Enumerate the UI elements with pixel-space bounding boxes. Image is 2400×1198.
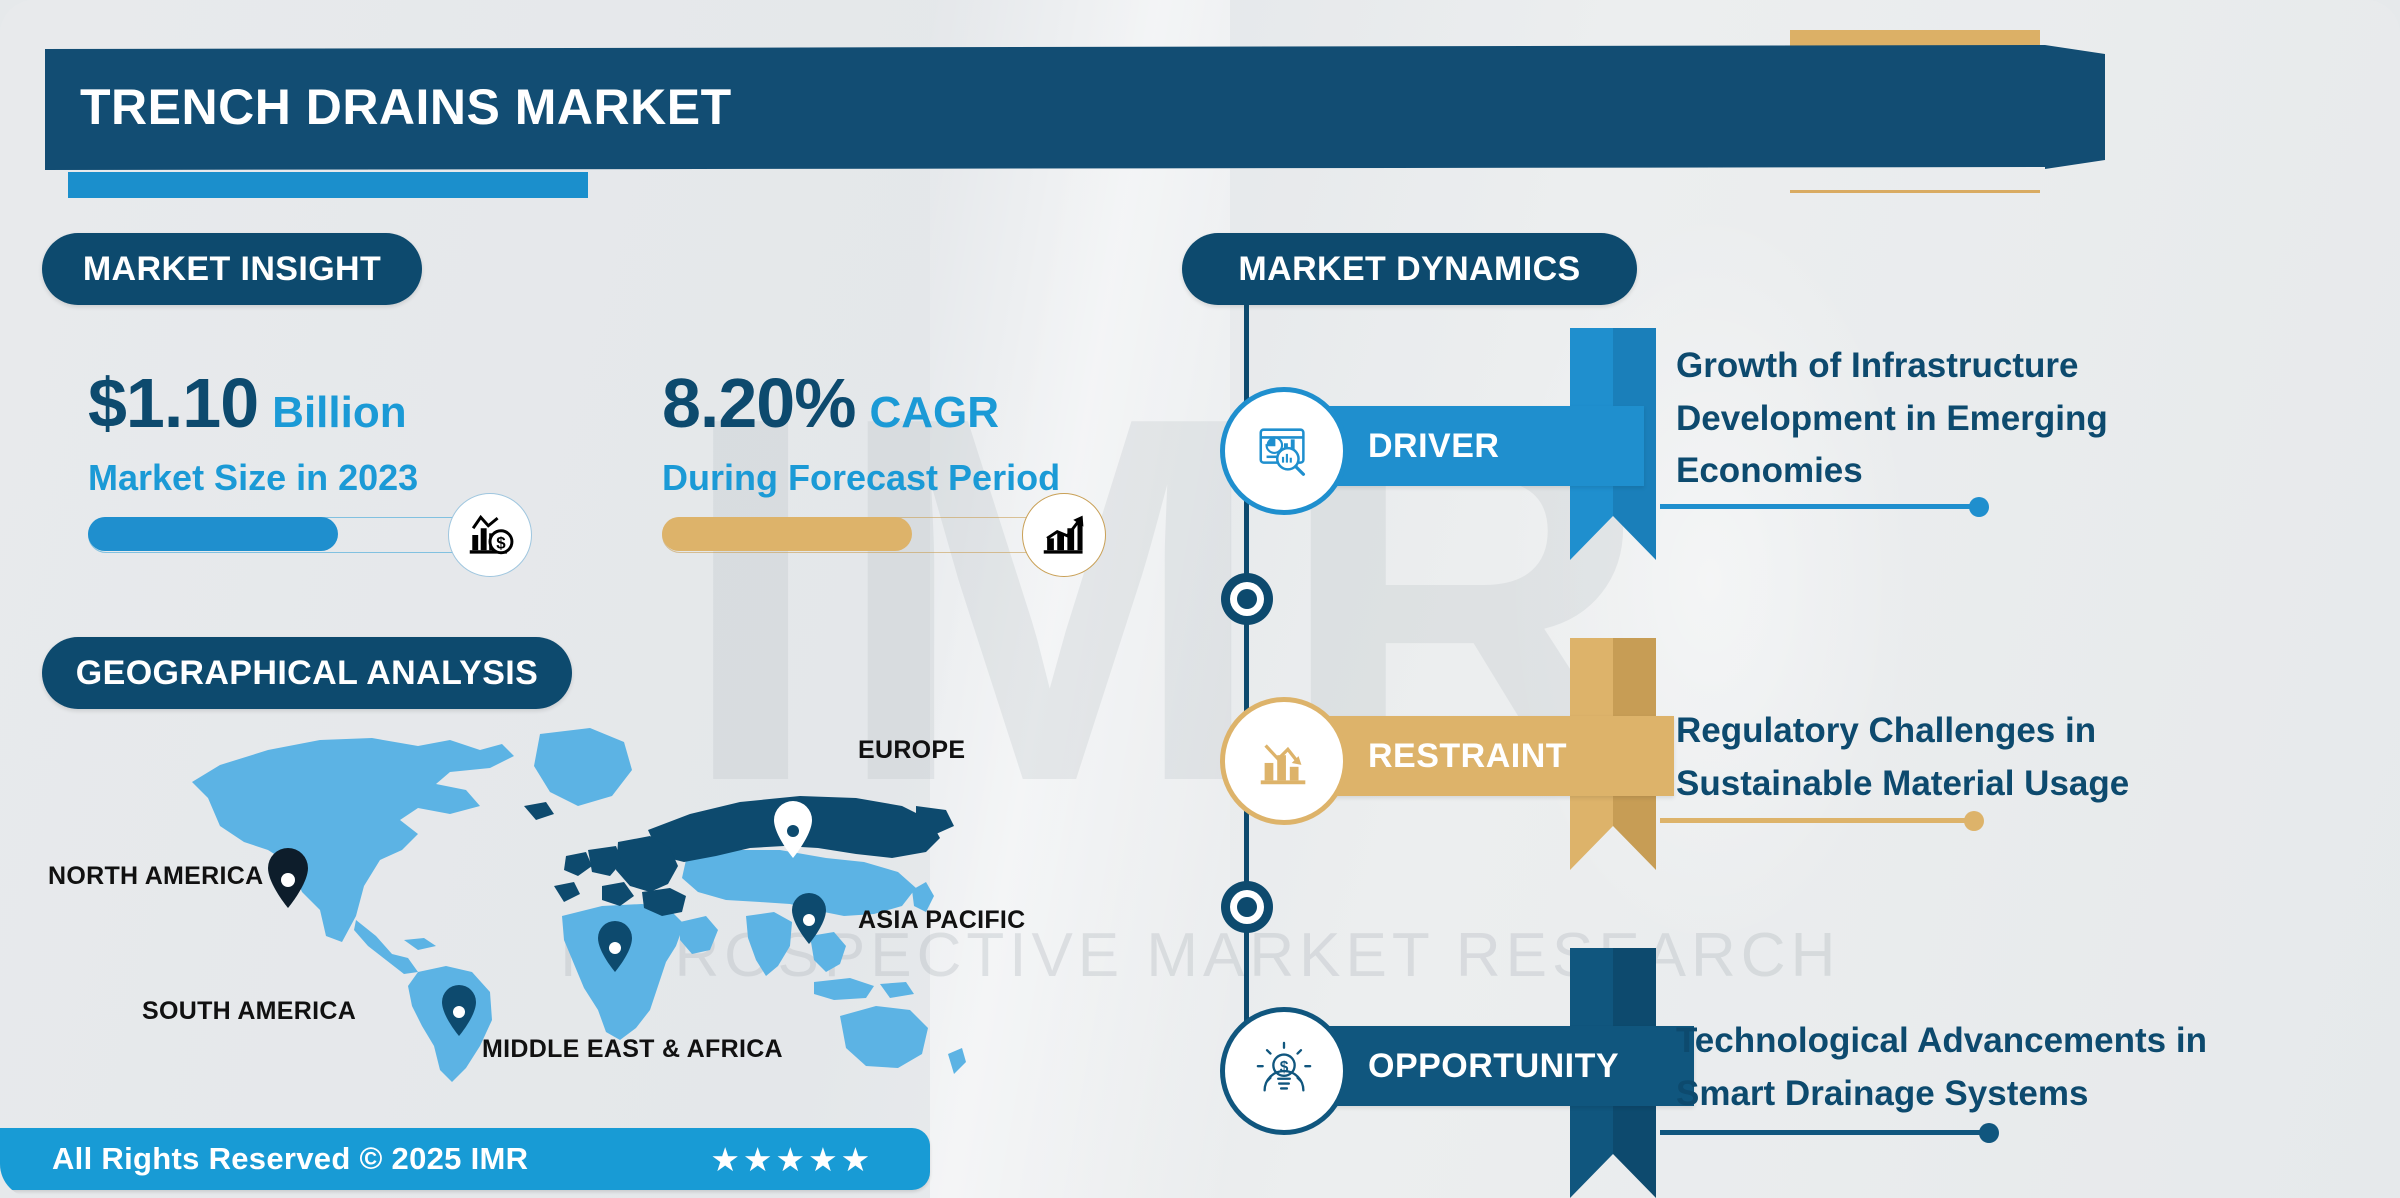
- lightbulb-dollar-icon: $: [1220, 1007, 1348, 1135]
- cagr-caption: During Forecast Period: [662, 457, 1060, 499]
- opportunity-underline: [1660, 1130, 1990, 1135]
- market-size-value: $1.10: [88, 363, 258, 443]
- map-label-europe: EUROPE: [858, 736, 965, 765]
- declining-bar-chart-icon: [1220, 697, 1348, 825]
- map-label-middle-east-africa: MIDDLE EAST & AFRICA: [482, 1035, 783, 1064]
- page-title: TRENCH DRAINS MARKET: [80, 78, 732, 136]
- map-label-south-america: SOUTH AMERICA: [142, 997, 356, 1026]
- opportunity-badge: $ OPPORTUNITY: [1244, 1026, 1694, 1106]
- market-size-caption: Market Size in 2023: [88, 457, 418, 499]
- infographic-canvas: IMR INTROSPECTIVE MARKET RESEARCH TRENCH…: [0, 0, 2400, 1198]
- opportunity-label: OPPORTUNITY: [1368, 1047, 1619, 1086]
- timeline-node-icon: [1221, 881, 1273, 933]
- opportunity-text: Technological Advancements in Smart Drai…: [1676, 1015, 2216, 1120]
- driver-underline: [1660, 504, 1980, 509]
- growth-chart-arrow-icon: [1022, 493, 1106, 577]
- restraint-text: Regulatory Challenges in Sustainable Mat…: [1676, 705, 2186, 810]
- cagr-progress: [662, 508, 1062, 560]
- footer-bar: All Rights Reserved © 2025 IMR ★★★★★: [0, 1128, 930, 1190]
- map-pin-north-america: [268, 848, 308, 908]
- map-label-asia-pacific: ASIA PACIFIC: [858, 906, 1026, 935]
- metric-cagr: 8.20% CAGR During Forecast Period: [662, 363, 1060, 499]
- driver-text: Growth of Infrastructure Development in …: [1676, 340, 2146, 498]
- cagr-value: 8.20%: [662, 363, 855, 443]
- driver-badge: DRIVER: [1244, 406, 1644, 486]
- metric-market-size: $1.10 Billion Market Size in 2023: [88, 363, 418, 499]
- restraint-underline: [1660, 818, 1975, 823]
- map-label-north-america: NORTH AMERICA: [48, 862, 263, 891]
- svg-text:$: $: [496, 534, 506, 553]
- driver-label: DRIVER: [1368, 427, 1499, 466]
- star-rating: ★★★★★: [710, 1140, 873, 1179]
- progress-fill: [662, 517, 912, 551]
- progress-fill: [88, 517, 338, 551]
- report-magnifier-icon: [1220, 387, 1348, 515]
- header-band-tail: [2045, 42, 2105, 172]
- section-label-market-dynamics: MARKET DYNAMICS: [1182, 233, 1637, 305]
- map-pin-europe: [774, 801, 812, 858]
- svg-text:$: $: [1280, 1059, 1289, 1076]
- section-label-geographical-analysis: GEOGRAPHICAL ANALYSIS: [42, 637, 572, 709]
- cagr-unit: CAGR: [869, 388, 999, 438]
- market-size-progress: $: [88, 508, 488, 560]
- header-gold-line: [1790, 190, 2040, 193]
- copyright-text: All Rights Reserved © 2025 IMR: [52, 1141, 528, 1177]
- restraint-label: RESTRAINT: [1368, 737, 1567, 776]
- section-label-market-insight: MARKET INSIGHT: [42, 233, 422, 305]
- header-underline-accent: [68, 172, 588, 198]
- world-map: [150, 710, 990, 1090]
- market-size-unit: Billion: [272, 388, 406, 438]
- background-glow: [1500, 200, 1920, 960]
- restraint-badge: RESTRAINT: [1244, 716, 1674, 796]
- timeline-node-icon: [1221, 573, 1273, 625]
- bar-chart-dollar-icon: $: [448, 493, 532, 577]
